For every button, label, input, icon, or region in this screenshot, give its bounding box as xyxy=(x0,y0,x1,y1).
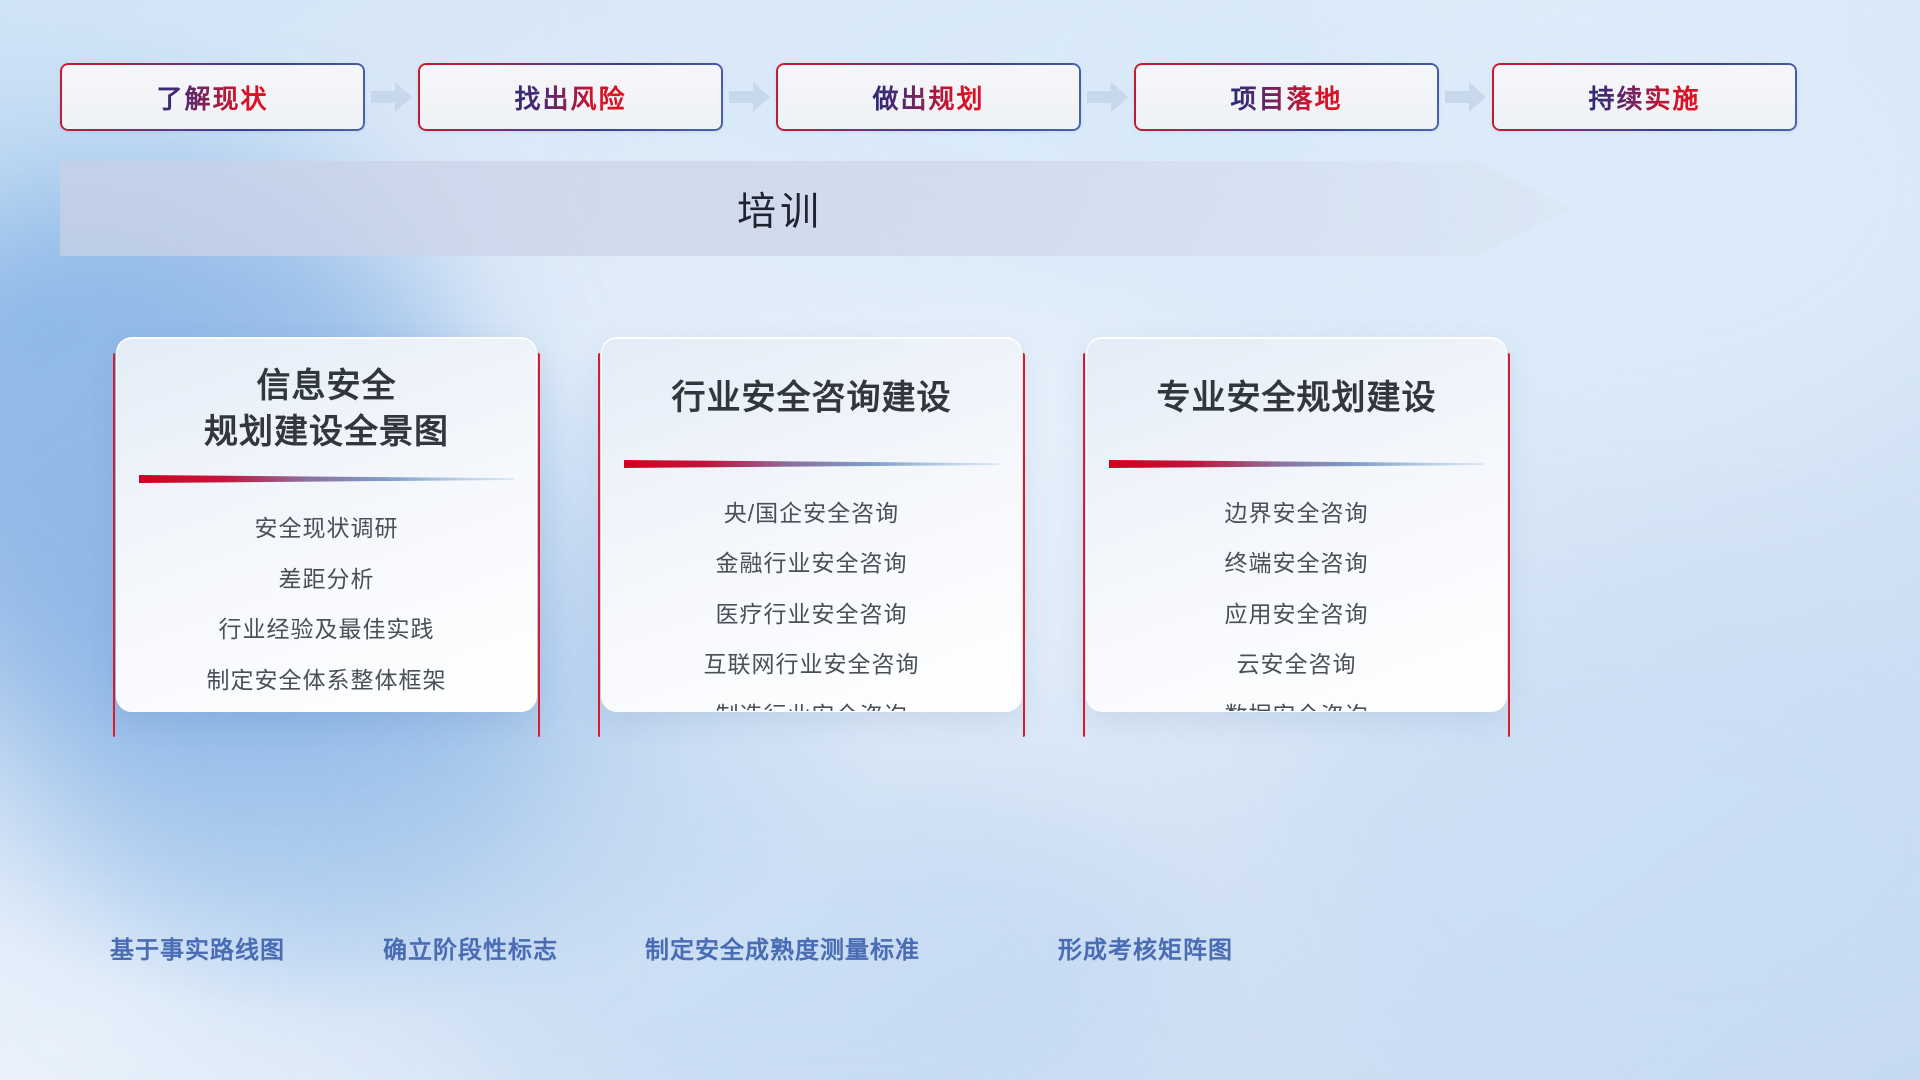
card-3[interactable]: 专业安全规划建设 xyxy=(1086,337,1507,712)
bottom-label-3: 制定安全成熟度测量标准 xyxy=(645,930,920,965)
step-label: 了解现状 xyxy=(156,79,268,116)
background-blob xyxy=(420,760,1180,1080)
bottom-label-1: 基于事实路线图 xyxy=(110,930,285,965)
card-row: 信息安全 规划建设全景图 xyxy=(110,337,1850,712)
banner-title: 培训 xyxy=(60,161,1500,256)
gradient-divider-icon xyxy=(139,473,514,487)
list-item: 互联网行业安全咨询 xyxy=(704,643,920,686)
list-item: 终端安全咨询 xyxy=(1225,542,1369,585)
process-step-row: 了解现状 找出风险 做出规划 项目落地 xyxy=(60,63,1860,131)
list-item: 差距分析 xyxy=(279,558,375,601)
step-item-1[interactable]: 了解现状 xyxy=(60,63,365,131)
step-item-4[interactable]: 项目落地 xyxy=(1134,63,1439,131)
step-item-5[interactable]: 持续实施 xyxy=(1492,63,1797,131)
arrow-right-icon xyxy=(1081,77,1134,117)
card-2[interactable]: 行业安全咨询建设 xyxy=(601,337,1022,712)
list-item: 边界安全咨询 xyxy=(1225,492,1369,535)
card-list: 边界安全咨询 终端安全咨询 应用安全咨询 云安全咨询 数据安全咨询 xyxy=(1087,492,1506,712)
card-list: 安全现状调研 差距分析 行业经验及最佳实践 制定安全体系整体框架 规划制定出客户… xyxy=(117,507,536,712)
arrow-right-icon xyxy=(365,77,418,117)
list-item: 云安全咨询 xyxy=(1237,643,1357,686)
card-title-line: 行业安全咨询建设 xyxy=(672,376,952,422)
list-item: 央/国企安全咨询 xyxy=(724,492,899,535)
list-item: 安全现状调研 xyxy=(255,507,399,550)
card-title-line: 专业安全规划建设 xyxy=(1157,376,1437,422)
card-1[interactable]: 信息安全 规划建设全景图 xyxy=(116,337,537,712)
list-item: 制定安全体系整体框架 xyxy=(207,659,447,702)
card-title: 行业安全咨询建设 xyxy=(658,376,966,422)
slide-canvas: 了解现状 找出风险 做出规划 项目落地 xyxy=(0,0,1920,1080)
step-label: 持续实施 xyxy=(1588,79,1700,116)
list-item: 行业经验及最佳实践 xyxy=(219,608,435,651)
card-title-line: 信息安全 xyxy=(204,364,449,410)
list-item: 规划制定出客户安全全景图 xyxy=(183,709,471,712)
gradient-divider-icon xyxy=(624,458,999,472)
step-label: 项目落地 xyxy=(1230,79,1342,116)
card-title-line: 规划建设全景图 xyxy=(204,410,449,456)
step-item-2[interactable]: 找出风险 xyxy=(418,63,723,131)
bottom-label-2: 确立阶段性标志 xyxy=(383,930,558,965)
step-label: 做出规划 xyxy=(872,79,984,116)
gradient-divider-icon xyxy=(1109,458,1484,472)
bottom-label-4: 形成考核矩阵图 xyxy=(1058,930,1233,965)
card-list: 央/国企安全咨询 金融行业安全咨询 医疗行业安全咨询 互联网行业安全咨询 制造行… xyxy=(602,492,1021,712)
card-title: 专业安全规划建设 xyxy=(1143,376,1451,422)
arrow-right-icon xyxy=(1439,77,1492,117)
list-item: 医疗行业安全咨询 xyxy=(716,593,908,636)
step-item-3[interactable]: 做出规划 xyxy=(776,63,1081,131)
card-wrapper-3: 专业安全规划建设 xyxy=(1080,337,1513,712)
training-banner: 培训 xyxy=(60,161,1570,256)
step-label: 找出风险 xyxy=(514,79,626,116)
card-wrapper-2: 行业安全咨询建设 xyxy=(595,337,1028,712)
list-item: 金融行业安全咨询 xyxy=(716,542,908,585)
bottom-label-row: 基于事实路线图 确立阶段性标志 制定安全成熟度测量标准 形成考核矩阵图 xyxy=(0,930,1920,974)
card-wrapper-1: 信息安全 规划建设全景图 xyxy=(110,337,543,712)
list-item: 应用安全咨询 xyxy=(1225,593,1369,636)
card-title: 信息安全 规划建设全景图 xyxy=(190,364,463,455)
list-item: 数据安全咨询 xyxy=(1225,694,1369,712)
arrow-right-icon xyxy=(723,77,776,117)
list-item: 制造行业安全咨询 xyxy=(716,694,908,712)
